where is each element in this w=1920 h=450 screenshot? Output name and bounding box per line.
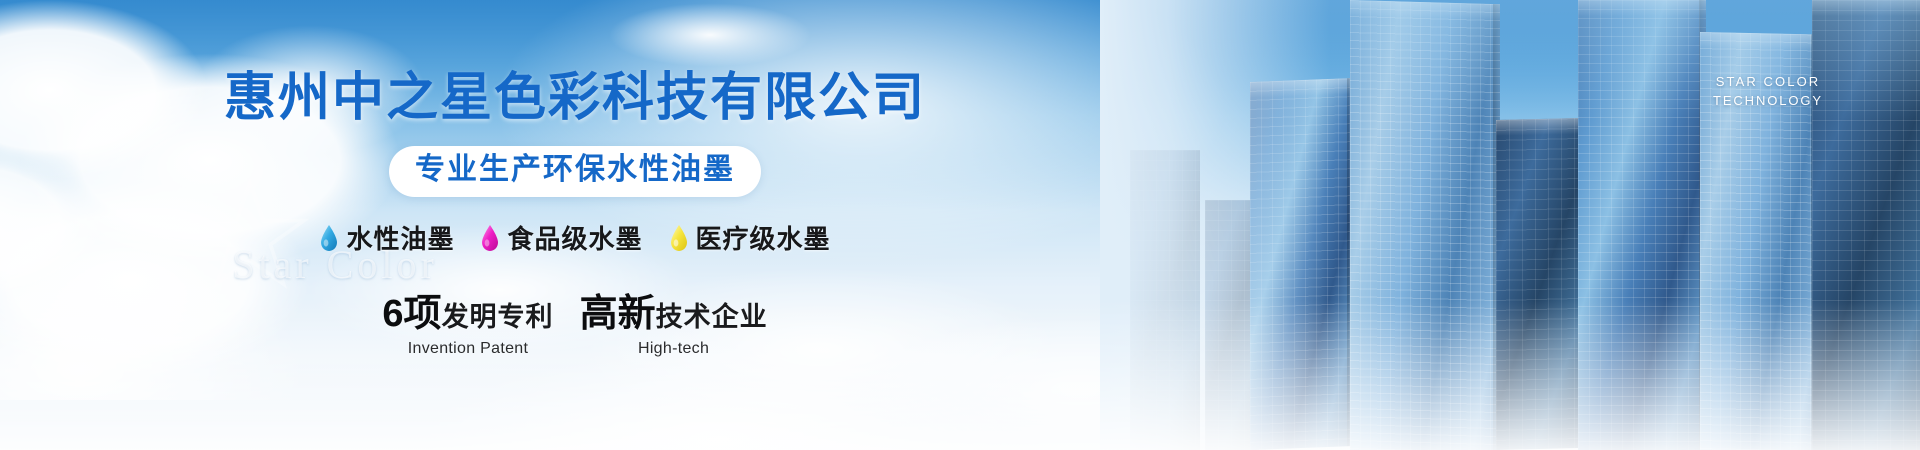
badge-big-text: 6项 (382, 282, 441, 337)
tower-cap-icon (1700, 32, 1818, 50)
feature-item-medical-grade-ink: 医疗级水墨 (669, 219, 831, 256)
badge-english-text: Invention Patent (408, 340, 528, 358)
badge-main-text: 高新 技术企业 (580, 282, 768, 337)
subtitle-pill-text: 专业生产环保水性油墨 (415, 152, 735, 188)
brand-tagline: STAR COLOR TECHNOLOGY (1688, 72, 1848, 110)
badge-small-text: 技术企业 (656, 295, 768, 334)
badge-invention-patent: 6项 发明专利 Invention Patent (382, 282, 553, 358)
brand-tagline-line2: TECHNOLOGY (1688, 91, 1848, 110)
water-drop-icon (669, 224, 689, 252)
feature-list: 水性油墨 食品级水墨 (319, 219, 830, 256)
water-drop-icon (319, 224, 339, 252)
badge-english-text: High-tech (638, 340, 709, 358)
subtitle-pill: 专业生产环保水性油墨 (389, 146, 761, 197)
badge-high-tech: 高新 技术企业 High-tech (580, 282, 768, 358)
water-drop-icon (480, 224, 500, 252)
badge-list: 6项 发明专利 Invention Patent 高新 技术企业 High-te… (382, 282, 767, 358)
feature-label: 食品级水墨 (507, 219, 642, 256)
badge-big-text: 高新 (580, 282, 656, 337)
company-headline: 惠州中之星色彩科技有限公司 (224, 55, 926, 130)
tower-cap-icon (1250, 78, 1354, 98)
feature-label: 水性油墨 (346, 219, 454, 256)
feature-item-food-grade-ink: 食品级水墨 (480, 219, 642, 256)
banner-content: 惠州中之星色彩科技有限公司 专业生产环保水性油墨 水性油 (0, 0, 1150, 450)
tower-cap-icon (1496, 118, 1588, 136)
badge-main-text: 6项 发明专利 (382, 282, 553, 337)
brand-tagline-line1: STAR COLOR (1688, 72, 1848, 91)
tower-cap-icon (1578, 0, 1706, 16)
feature-label: 医疗级水墨 (696, 219, 831, 256)
badge-small-text: 发明专利 (442, 295, 554, 334)
promo-banner: STAR COLOR TECHNOLOGY Star Color 惠州中之星色彩… (0, 0, 1920, 450)
feature-item-water-based-ink: 水性油墨 (319, 219, 454, 256)
tower-cap-icon (1350, 0, 1500, 20)
tower-cap-icon (1812, 0, 1920, 16)
